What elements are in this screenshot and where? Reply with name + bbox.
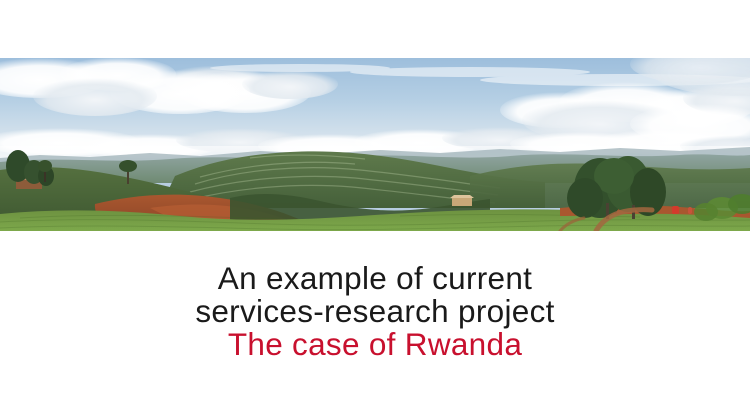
field-shelter: [450, 195, 474, 206]
title-line-1: An example of current: [0, 262, 750, 295]
slide-canvas: An example of current services-research …: [0, 0, 750, 406]
landscape-illustration: [0, 58, 750, 231]
title-line-3-subtitle: The case of Rwanda: [0, 328, 750, 361]
title-line-2: services-research project: [0, 295, 750, 328]
slide-title-block: An example of current services-research …: [0, 262, 750, 361]
rwanda-landscape-photo: [0, 58, 750, 231]
